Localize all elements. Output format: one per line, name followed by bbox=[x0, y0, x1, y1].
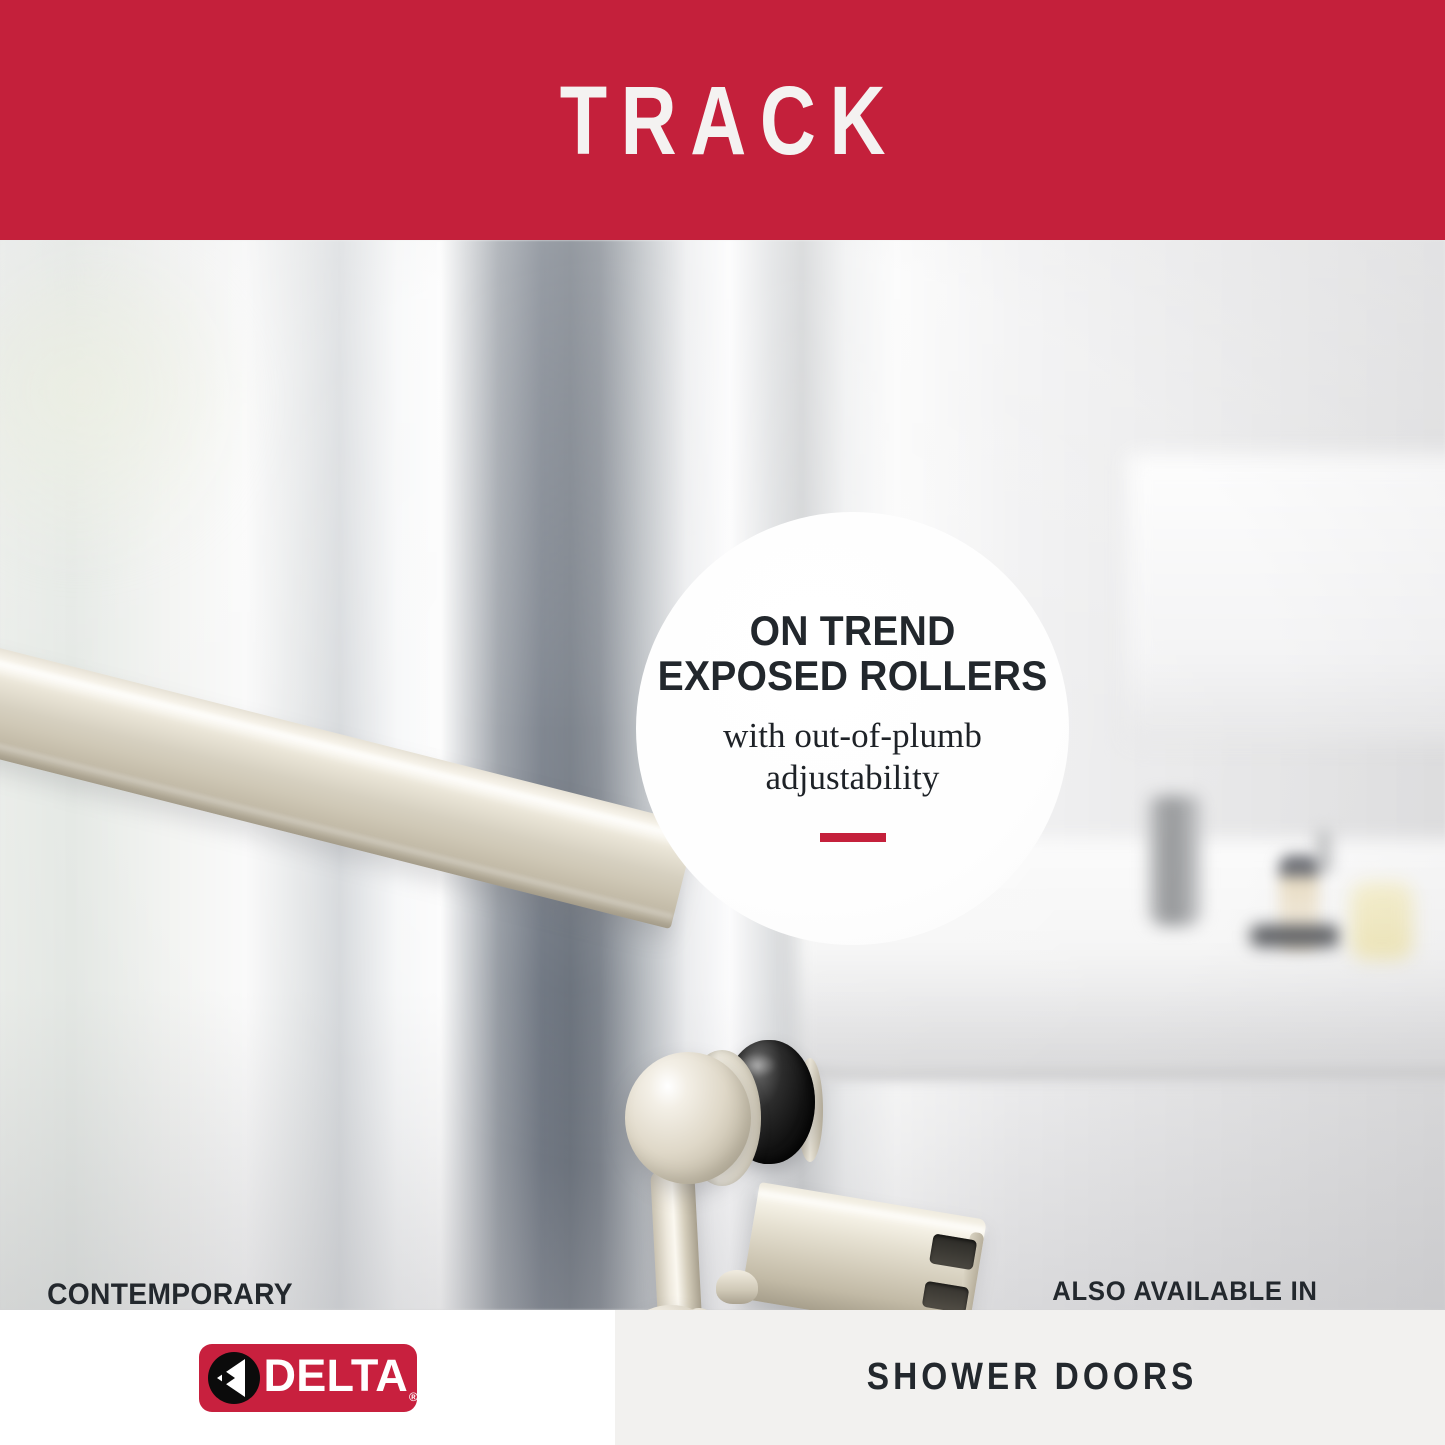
delta-logo[interactable]: DELTA® bbox=[199, 1344, 417, 1412]
footer-brand-panel: DELTA® bbox=[0, 1310, 615, 1445]
product-caption: CONTEMPORARY TRACK IN BRUSHED NICKEL bbox=[35, 1276, 306, 1310]
product-photo-scene: CONTEMPORARY TRACK IN BRUSHED NICKEL ALS… bbox=[0, 240, 1445, 1310]
product-caption-line-1: CONTEMPORARY bbox=[35, 1276, 306, 1310]
footer-bar: DELTA® SHOWER DOORS bbox=[0, 1310, 1445, 1445]
delta-logo-text: DELTA® bbox=[264, 1353, 418, 1398]
channel-notch-upper bbox=[929, 1233, 977, 1270]
callout-subhead: with out-of-plumb adjustability bbox=[723, 715, 982, 800]
bracket-stud bbox=[716, 1270, 758, 1304]
footer-category-panel: SHOWER DOORS bbox=[615, 1310, 1445, 1445]
callout-subhead-line-2: adjustability bbox=[723, 757, 982, 800]
roller-disc-top bbox=[625, 1052, 751, 1184]
header-banner: TRACK bbox=[0, 0, 1445, 240]
page-title: TRACK bbox=[546, 72, 899, 169]
registered-mark: ® bbox=[409, 1390, 418, 1404]
callout-headline-line-1: ON TREND bbox=[658, 608, 1048, 653]
delta-wordmark: DELTA bbox=[264, 1350, 408, 1401]
delta-triangle-logo-icon bbox=[208, 1352, 260, 1404]
callout-headline-line-2: EXPOSED ROLLERS bbox=[658, 653, 1048, 698]
callout-accent-rule bbox=[820, 833, 886, 842]
callout-subhead-line-1: with out-of-plumb bbox=[723, 715, 982, 758]
feature-callout-circle: ON TREND EXPOSED ROLLERS with out-of-plu… bbox=[636, 512, 1069, 945]
footer-category-label: SHOWER DOORS bbox=[863, 1356, 1198, 1399]
available-finishes-title: ALSO AVAILABLE IN bbox=[962, 1276, 1409, 1307]
available-finishes: ALSO AVAILABLE IN CHROME BRONZE MATTE BL… bbox=[950, 1276, 1420, 1310]
callout-headline: ON TREND EXPOSED ROLLERS bbox=[658, 608, 1048, 699]
marketing-image: TRACK bbox=[0, 0, 1445, 1445]
